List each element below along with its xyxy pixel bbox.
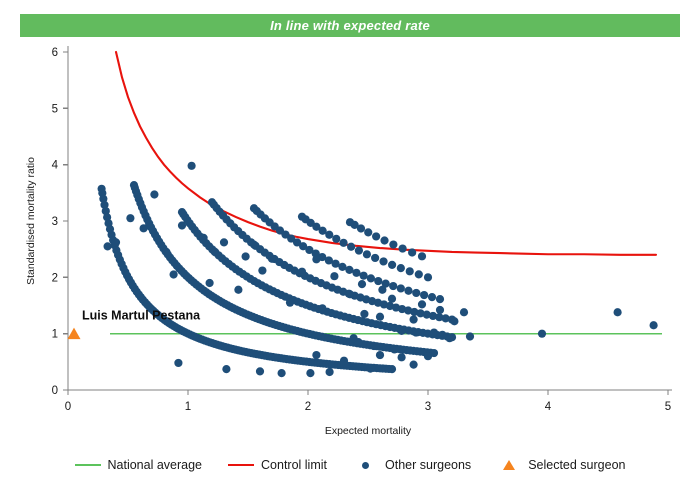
scatter-point-other-surgeon[interactable] — [390, 345, 398, 353]
dot-swatch-icon — [362, 462, 369, 469]
funnel-plot-page: In line with expected rate 0123456012345… — [0, 0, 700, 500]
scatter-point-other-surgeon[interactable] — [406, 267, 414, 275]
scatter-point-other-surgeon[interactable] — [188, 162, 196, 170]
scatter-point-other-surgeon[interactable] — [378, 286, 386, 294]
scatter-point-other-surgeon[interactable] — [460, 308, 468, 316]
chart-legend: National average Control limit Other sur… — [0, 452, 700, 478]
scatter-point-other-surgeon[interactable] — [340, 357, 348, 365]
scatter-point-other-surgeon[interactable] — [430, 328, 438, 336]
scatter-point-other-surgeon[interactable] — [424, 352, 432, 360]
scatter-point-other-surgeon[interactable] — [222, 365, 230, 373]
scatter-point-other-surgeon[interactable] — [410, 315, 418, 323]
legend-label: Selected surgeon — [528, 458, 625, 472]
x-tick-label: 3 — [425, 401, 431, 413]
x-tick-label: 2 — [305, 401, 311, 413]
scatter-point-other-surgeon[interactable] — [388, 365, 396, 373]
scatter-point-other-surgeon[interactable] — [379, 257, 387, 265]
scatter-point-other-surgeon[interactable] — [428, 293, 436, 301]
scatter-point-other-surgeon[interactable] — [420, 291, 428, 299]
scatter-point-other-surgeon[interactable] — [298, 268, 306, 276]
scatter-point-other-surgeon[interactable] — [412, 289, 420, 297]
scatter-point-other-surgeon[interactable] — [410, 361, 418, 369]
y-tick-label: 2 — [52, 272, 58, 284]
scatter-point-other-surgeon[interactable] — [380, 236, 388, 244]
scatter-point-other-surgeon[interactable] — [256, 367, 264, 375]
scatter-point-other-surgeon[interactable] — [408, 248, 416, 256]
legend-label: National average — [108, 458, 203, 472]
scatter-point-other-surgeon[interactable] — [352, 269, 360, 277]
scatter-point-other-surgeon[interactable] — [374, 277, 382, 285]
scatter-point-other-surgeon[interactable] — [398, 353, 406, 361]
scatter-point-other-surgeon[interactable] — [242, 252, 250, 260]
funnel-plot-svg: 0123456012345Expected mortalityStandardi… — [0, 40, 700, 440]
scatter-point-other-surgeon[interactable] — [326, 368, 334, 376]
scatter-point-other-surgeon[interactable] — [258, 266, 266, 274]
legend-item-selected-surgeon[interactable]: Selected surgeon — [497, 458, 625, 472]
scatter-point-other-surgeon[interactable] — [376, 313, 384, 321]
x-tick-label: 5 — [665, 401, 671, 413]
scatter-point-other-surgeon[interactable] — [366, 364, 374, 372]
scatter-point-other-surgeon[interactable] — [338, 263, 346, 271]
scatter-point-other-surgeon[interactable] — [424, 273, 432, 281]
scatter-point-other-surgeon[interactable] — [278, 369, 286, 377]
y-tick-label: 5 — [52, 103, 58, 115]
scatter-point-other-surgeon[interactable] — [372, 232, 380, 240]
scatter-point-other-surgeon[interactable] — [346, 290, 354, 298]
scatter-point-other-surgeon[interactable] — [200, 234, 208, 242]
scatter-point-other-surgeon[interactable] — [140, 224, 148, 232]
scatter-point-other-surgeon[interactable] — [436, 295, 444, 303]
scatter-point-other-surgeon[interactable] — [398, 327, 406, 335]
scatter-point-other-surgeon[interactable] — [397, 264, 405, 272]
scatter-point-other-surgeon[interactable] — [355, 246, 363, 254]
scatter-point-other-surgeon[interactable] — [397, 284, 405, 292]
scatter-point-other-surgeon[interactable] — [162, 248, 170, 256]
scatter-point-other-surgeon[interactable] — [178, 221, 186, 229]
y-tick-label: 1 — [52, 329, 58, 341]
x-tick-label: 0 — [65, 401, 71, 413]
scatter-point-other-surgeon[interactable] — [367, 274, 375, 282]
x-tick-label: 4 — [545, 401, 552, 413]
legend-item-national-average[interactable]: National average — [75, 458, 203, 472]
x-tick-label: 1 — [185, 401, 191, 413]
legend-item-other-surgeons[interactable]: Other surgeons — [353, 458, 471, 472]
scatter-point-other-surgeon[interactable] — [104, 242, 112, 250]
scatter-point-other-surgeon[interactable] — [170, 270, 178, 278]
control-limit-curve — [116, 52, 656, 255]
scatter-point-other-surgeon[interactable] — [347, 243, 355, 251]
scatter-point-other-surgeon[interactable] — [330, 272, 338, 280]
legend-label: Other surgeons — [385, 458, 471, 472]
scatter-point-other-surgeon[interactable] — [234, 286, 242, 294]
scatter-point-other-surgeon[interactable] — [389, 282, 397, 290]
scatter-point-other-surgeon[interactable] — [339, 239, 347, 247]
scatter-point-other-surgeon[interactable] — [312, 351, 320, 359]
scatter-point-other-surgeon[interactable] — [360, 272, 368, 280]
scatter-point-other-surgeon[interactable] — [614, 308, 622, 316]
scatter-point-other-surgeon[interactable] — [650, 321, 658, 329]
selected-surgeon-marker[interactable] — [68, 328, 81, 340]
scatter-point-other-surgeon[interactable] — [306, 369, 314, 377]
scatter-point-other-surgeon[interactable] — [364, 228, 372, 236]
scatter-point-other-surgeon[interactable] — [126, 214, 134, 222]
line-swatch-icon — [228, 464, 254, 466]
scatter-point-other-surgeon[interactable] — [332, 235, 340, 243]
scatter-point-other-surgeon[interactable] — [398, 244, 406, 252]
scatter-point-other-surgeon[interactable] — [318, 304, 326, 312]
scatter-point-other-surgeon[interactable] — [436, 306, 444, 314]
scatter-point-other-surgeon[interactable] — [415, 270, 423, 278]
scatter-point-other-surgeon[interactable] — [286, 299, 294, 307]
scatter-point-other-surgeon[interactable] — [250, 241, 258, 249]
scatter-point-other-surgeon[interactable] — [404, 287, 412, 295]
scatter-point-other-surgeon[interactable] — [150, 190, 158, 198]
scatter-point-other-surgeon[interactable] — [370, 342, 378, 350]
scatter-point-other-surgeon[interactable] — [412, 328, 420, 336]
scatter-point-other-surgeon[interactable] — [538, 330, 546, 338]
chart-plot-area: 0123456012345Expected mortalityStandardi… — [0, 40, 700, 440]
line-swatch-icon — [75, 464, 101, 466]
triangle-swatch-icon — [503, 460, 515, 470]
scatter-point-other-surgeon[interactable] — [446, 334, 454, 342]
scatter-point-other-surgeon[interactable] — [450, 317, 458, 325]
y-tick-label: 3 — [52, 216, 58, 228]
scatter-point-other-surgeon[interactable] — [174, 359, 182, 367]
status-banner: In line with expected rate — [20, 14, 680, 37]
scatter-point-other-surgeon[interactable] — [357, 224, 365, 232]
scatter-point-other-surgeon[interactable] — [312, 255, 320, 263]
scatter-point-other-surgeon[interactable] — [206, 279, 214, 287]
status-banner-label: In line with expected rate — [270, 19, 430, 32]
scatter-point-other-surgeon[interactable] — [363, 250, 371, 258]
scatter-point-other-surgeon[interactable] — [350, 334, 358, 342]
scatter-point-other-surgeon[interactable] — [112, 238, 120, 246]
scatter-point-other-surgeon[interactable] — [418, 300, 426, 308]
y-tick-label: 6 — [52, 47, 58, 59]
scatter-point-other-surgeon[interactable] — [438, 331, 446, 339]
scatter-point-other-surgeon[interactable] — [418, 252, 426, 260]
other-surgeons-scatter — [98, 162, 658, 378]
legend-item-control-limit[interactable]: Control limit — [228, 458, 327, 472]
selected-surgeon-label: Luis Martul Pestana — [82, 309, 201, 323]
y-tick-label: 0 — [52, 385, 58, 397]
scatter-point-other-surgeon[interactable] — [371, 254, 379, 262]
y-axis-title: Standardised mortality ratio — [25, 157, 37, 285]
scatter-point-other-surgeon[interactable] — [388, 261, 396, 269]
scatter-point-other-surgeon[interactable] — [389, 240, 397, 248]
scatter-point-other-surgeon[interactable] — [388, 295, 396, 303]
scatter-point-other-surgeon[interactable] — [220, 238, 228, 246]
y-tick-label: 4 — [52, 160, 59, 172]
legend-label: Control limit — [261, 458, 327, 472]
scatter-point-other-surgeon[interactable] — [210, 247, 218, 255]
x-axis-title: Expected mortality — [325, 425, 412, 437]
scatter-point-other-surgeon[interactable] — [325, 231, 333, 239]
scatter-point-other-surgeon[interactable] — [358, 280, 366, 288]
scatter-point-other-surgeon[interactable] — [466, 332, 474, 340]
scatter-point-other-surgeon[interactable] — [376, 351, 384, 359]
scatter-point-other-surgeon[interactable] — [268, 255, 276, 263]
scatter-point-other-surgeon[interactable] — [345, 266, 353, 274]
scatter-point-other-surgeon[interactable] — [360, 310, 368, 318]
